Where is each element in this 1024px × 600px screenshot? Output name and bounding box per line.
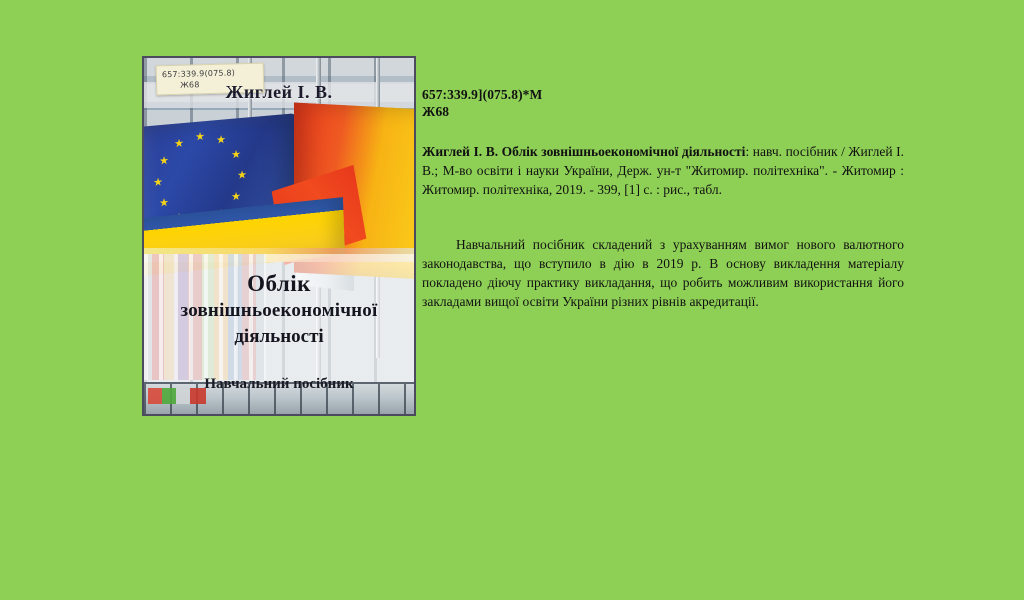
cover-title-line-1: Облік xyxy=(152,270,406,298)
annotation-paragraph: Навчальний посібник складений з урахуван… xyxy=(422,235,904,311)
call-number-block: 657:339.9](075.8)*М Ж68 xyxy=(422,86,904,120)
catalog-record-text: 657:339.9](075.8)*М Ж68 Жиглей І. В. Обл… xyxy=(422,86,904,311)
cover-subtitle: Навчальний посібник xyxy=(152,376,406,393)
cover-title: Облік зовнішньоекономічної діяльності xyxy=(152,270,406,350)
cover-title-line-2: зовнішньоекономічної xyxy=(152,298,406,324)
book-cover-artwork: 657:339.9(075.8) Ж68 Жиглей І. В. Облік … xyxy=(144,58,414,414)
call-number-line-1: 657:339.9](075.8)*М xyxy=(422,86,904,103)
call-number-line-2: Ж68 xyxy=(422,103,904,120)
bibliographic-description: Жиглей І. В. Облік зовнішньоекономічної … xyxy=(422,142,904,199)
page-background: 657:339.9(075.8) Ж68 Жиглей І. В. Облік … xyxy=(0,0,1024,600)
cover-author-name: Жиглей І. В. xyxy=(144,82,414,103)
biblio-author-title: Жиглей І. В. Облік зовнішньоекономічної … xyxy=(422,144,745,159)
book-cover-image: 657:339.9(075.8) Ж68 Жиглей І. В. Облік … xyxy=(142,56,416,416)
cover-title-line-3: діяльності xyxy=(152,324,406,350)
